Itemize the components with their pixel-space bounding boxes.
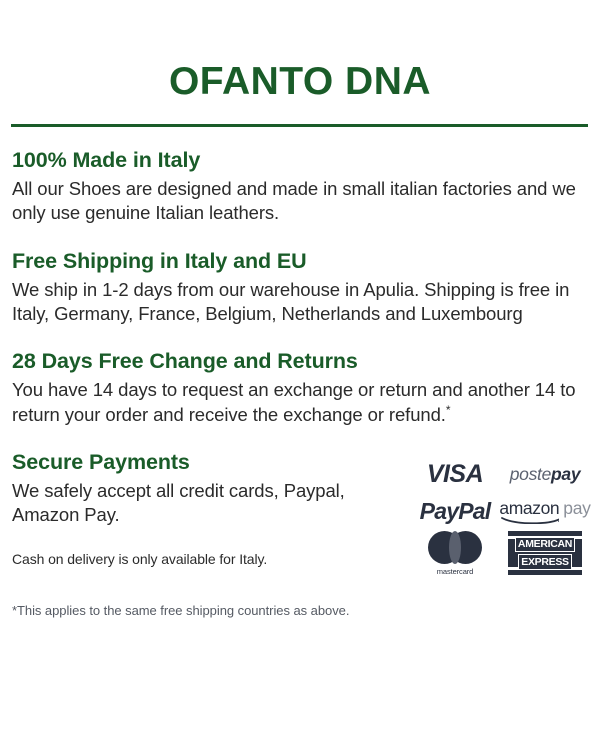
section-body: We ship in 1-2 days from our warehouse i… xyxy=(12,278,588,327)
postepay-logo-label: postepay xyxy=(510,464,581,485)
mastercard-logo-label: mastercard xyxy=(437,567,474,576)
secure-payments-text: Secure Payments We safely accept all cre… xyxy=(12,449,412,568)
section-body: You have 14 days to request an exchange … xyxy=(12,378,588,427)
visa-logo-label: VISA xyxy=(427,460,483,489)
cash-on-delivery-note: Cash on delivery is only available for I… xyxy=(12,550,412,568)
section-free-change-and-returns: 28 Days Free Change and Returns You have… xyxy=(12,348,588,427)
section-made-in-italy: 100% Made in Italy All our Shoes are des… xyxy=(12,147,588,226)
amex-line-express: EXPRESS xyxy=(518,554,572,570)
amazon-wordmark: amazon xyxy=(499,498,559,524)
mastercard-circles-icon xyxy=(428,531,482,564)
section-secure-payments: Secure Payments We safely accept all cre… xyxy=(12,449,588,577)
mastercard-logo-mark: mastercard xyxy=(428,531,482,576)
amex-line-american: AMERICAN xyxy=(515,537,575,553)
footnote: *This applies to the same free shipping … xyxy=(0,603,600,620)
section-free-shipping: Free Shipping in Italy and EU We ship in… xyxy=(12,248,588,327)
amazon-text: amazon xyxy=(499,498,559,518)
american-express-logo-mark: AMERICAN EXPRESS xyxy=(508,531,582,575)
payment-logos-row: PayPal amazon pay xyxy=(412,493,592,529)
paypal-logo-label: PayPal xyxy=(420,498,491,525)
visa-logo: VISA xyxy=(412,460,498,489)
footnote-marker: * xyxy=(446,403,451,417)
section-body-text: You have 14 days to request an exchange … xyxy=(12,379,575,424)
section-body: We safely accept all credit cards, Paypa… xyxy=(12,479,412,528)
secure-payments-row: Secure Payments We safely accept all cre… xyxy=(12,449,588,577)
amazon-pay-logo: amazon pay xyxy=(498,498,592,524)
postepay-logo: postepay xyxy=(498,464,592,485)
mastercard-logo: mastercard xyxy=(412,531,498,576)
section-heading: 100% Made in Italy xyxy=(12,147,588,174)
sections-container: 100% Made in Italy All our Shoes are des… xyxy=(0,147,600,577)
postepay-poste-text: poste xyxy=(510,464,551,484)
section-heading: Free Shipping in Italy and EU xyxy=(12,248,588,275)
payment-logos-row: VISA postepay xyxy=(412,455,592,493)
amazon-swoosh-icon xyxy=(501,517,559,524)
title-divider xyxy=(11,124,588,127)
page-title: OFANTO DNA xyxy=(0,0,600,101)
section-body: All our Shoes are designed and made in s… xyxy=(12,177,588,226)
mastercard-overlap-lens xyxy=(449,531,461,564)
section-heading: Secure Payments xyxy=(12,449,412,476)
postepay-pay-text: pay xyxy=(551,464,580,484)
paypal-logo: PayPal xyxy=(412,498,498,525)
ofanto-dna-info-panel: OFANTO DNA 100% Made in Italy All our Sh… xyxy=(0,0,600,750)
amazon-pay-text: pay xyxy=(563,498,590,519)
american-express-logo: AMERICAN EXPRESS xyxy=(498,531,592,575)
amazon-pay-logo-mark: amazon pay xyxy=(499,498,590,524)
payment-logos-row: mastercard AMERICAN EXPRESS xyxy=(412,529,592,577)
section-heading: 28 Days Free Change and Returns xyxy=(12,348,588,375)
payment-logos-group: VISA postepay PayPal amazon xyxy=(412,455,592,577)
